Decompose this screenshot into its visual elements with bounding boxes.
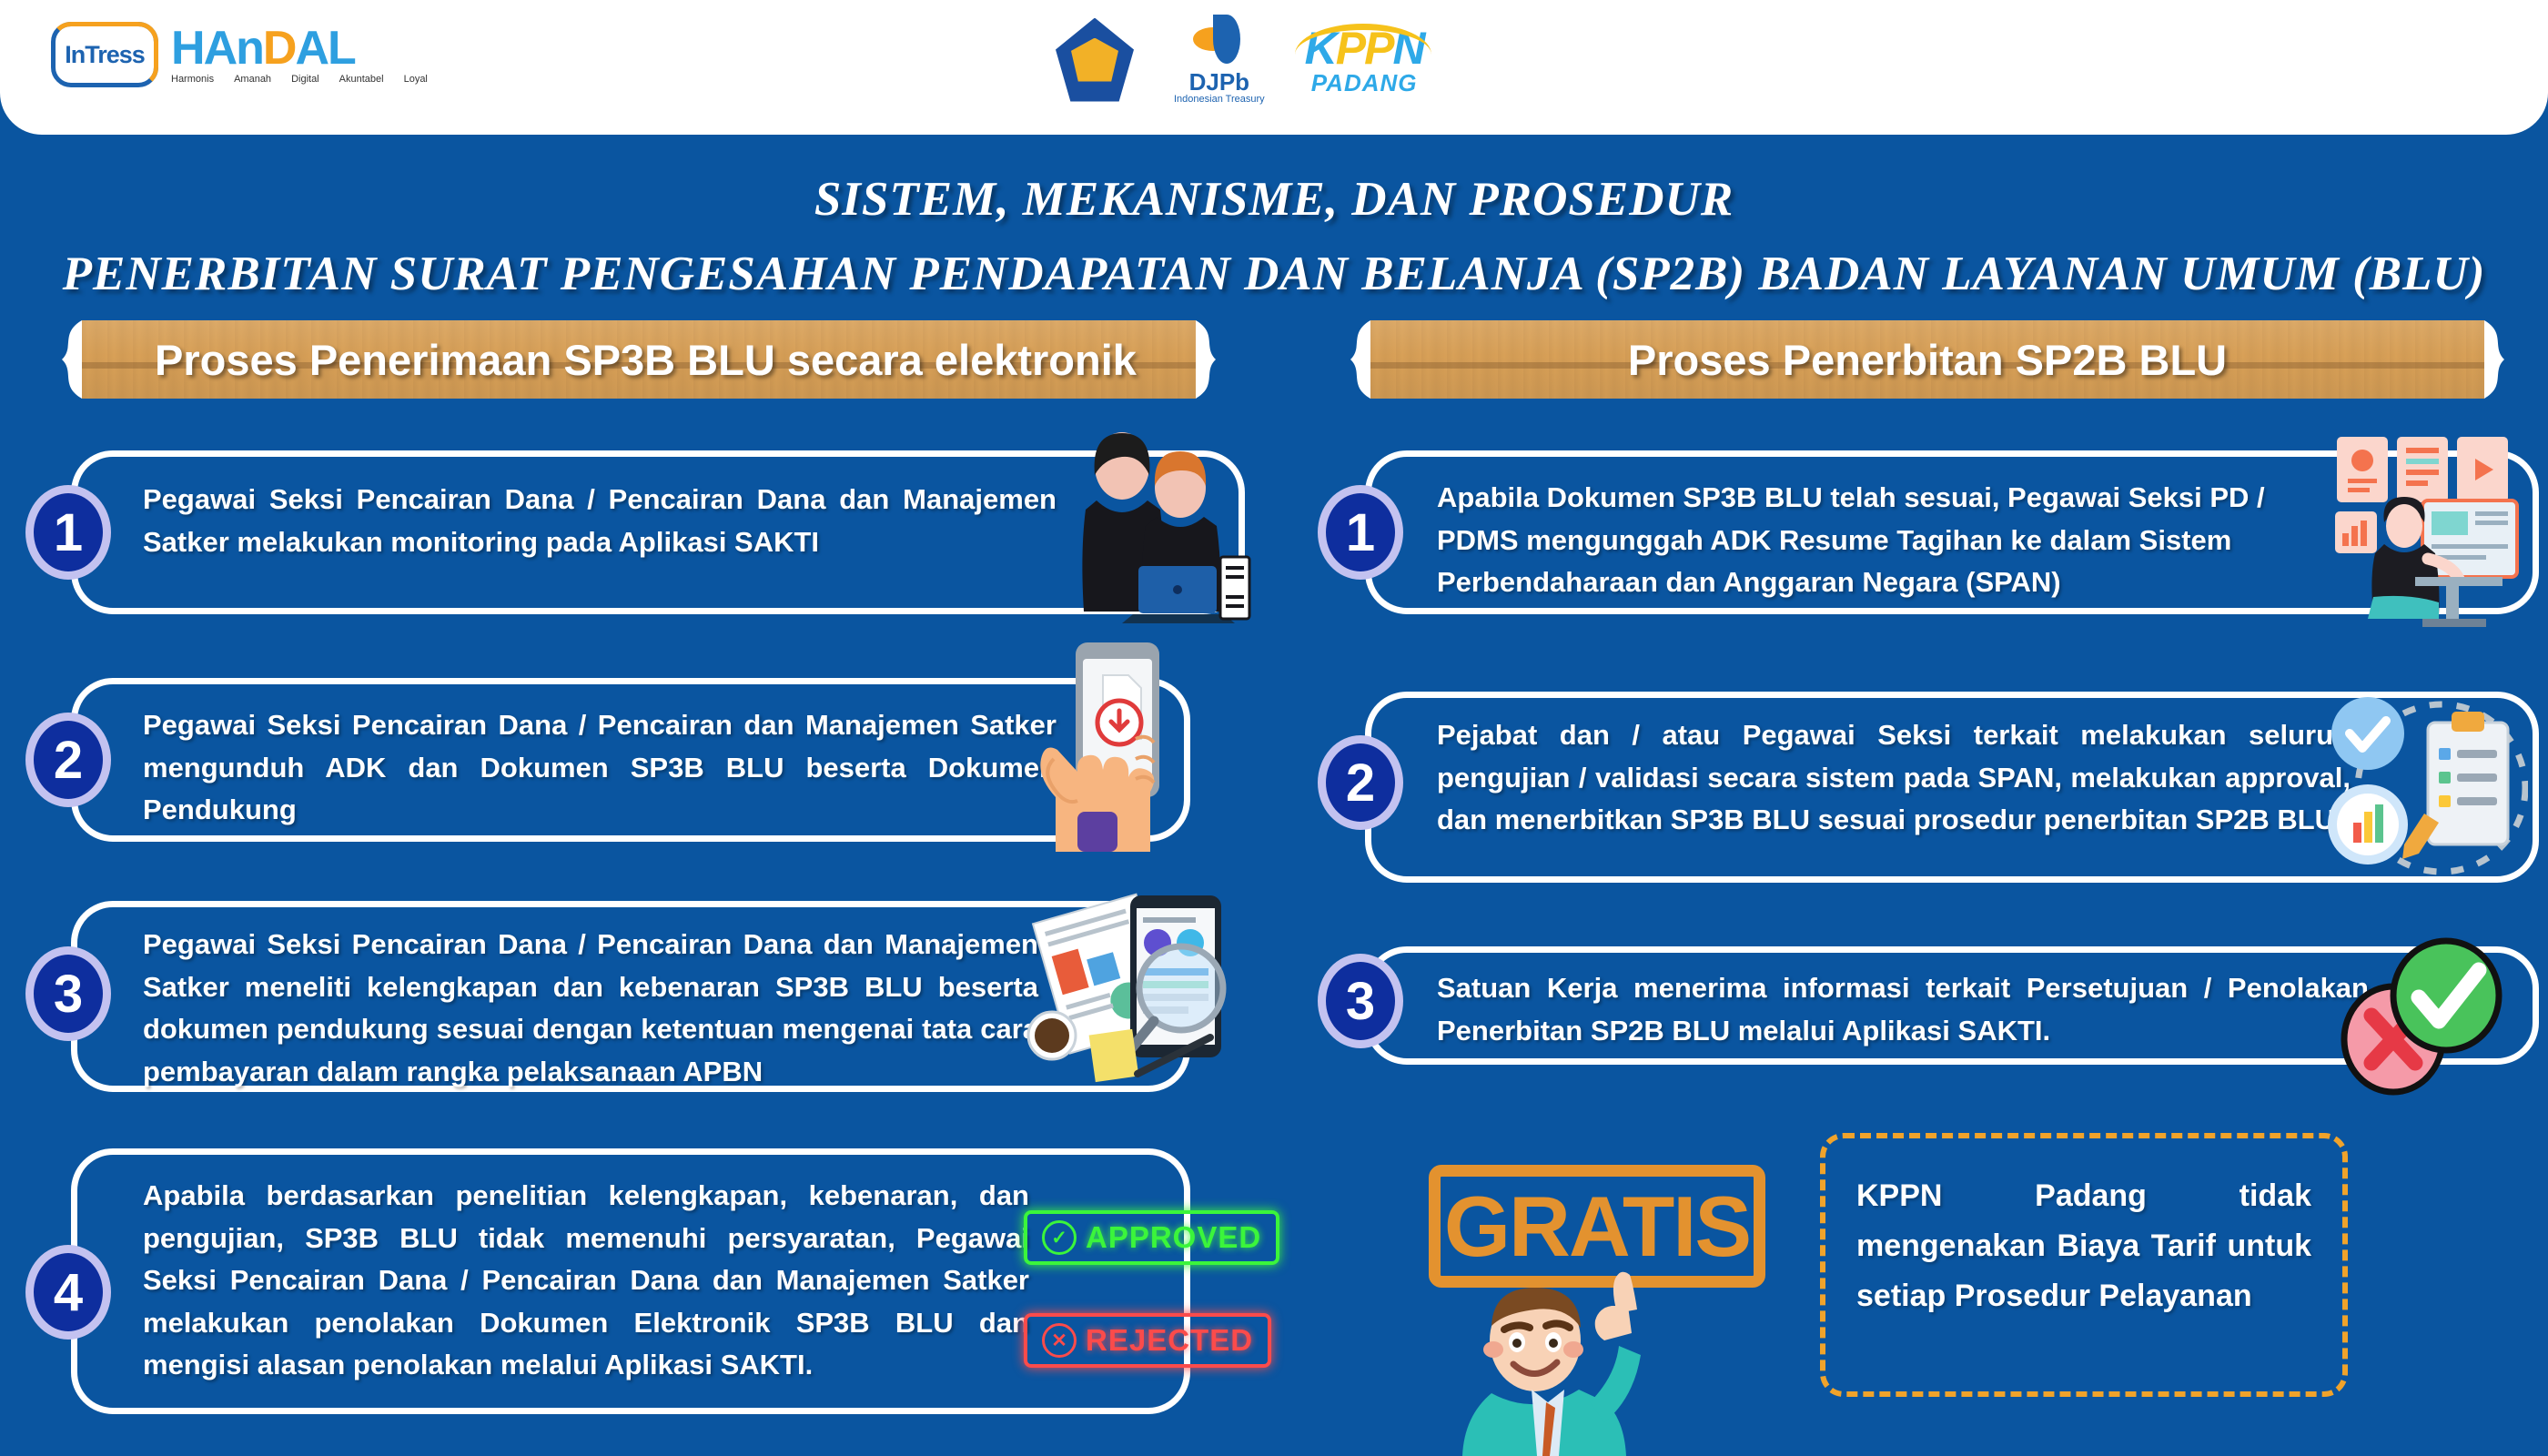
step-text: Pegawai Seksi Pencairan Dana / Pencairan…: [77, 907, 1184, 1093]
kppn-sublabel: PADANG: [1311, 71, 1418, 95]
free-service-note: KPPN Padang tidak mengenakan Biaya Tarif…: [1820, 1133, 2348, 1397]
djpb-mark-icon: [1193, 15, 1246, 67]
cross-circle-icon: ✕: [1042, 1323, 1077, 1358]
ribbon-end-left-icon: [42, 320, 82, 399]
ribbon-end-right-icon: [2484, 320, 2524, 399]
step-text: Satuan Kerja menerima informasi terkait …: [1371, 953, 2533, 1052]
step-number-badge-right-1: 1: [1318, 485, 1403, 580]
step-card-right-3: Satuan Kerja menerima informasi terkait …: [1365, 946, 2539, 1065]
kppn-padang-logo: KPPN PADANG: [1305, 25, 1424, 95]
pointing-businessman-icon: [1451, 1269, 1734, 1456]
rejected-label: REJECTED: [1086, 1323, 1253, 1358]
step-card-left-2: Pegawai Seksi Pencairan Dana / Pencairan…: [71, 678, 1190, 842]
step-number-badge-left-1: 1: [25, 485, 111, 580]
handal-values-row: Harmonis Amanah Digital Akuntabel Loyal: [171, 74, 428, 85]
section-banner-left: Proses Penerimaan SP3B BLU secara elektr…: [42, 320, 1236, 399]
title-line-1: SISTEM, MEKANISME, DAN PROSEDUR: [0, 169, 2548, 229]
step-card-left-1: Pegawai Seksi Pencairan Dana / Pencairan…: [71, 450, 1245, 614]
djpb-logo: DJPb Indonesian Treasury: [1174, 15, 1265, 105]
step-text: Apabila berdasarkan penelitian kelengkap…: [77, 1155, 1184, 1387]
handal-letter-a: A: [204, 22, 237, 75]
banner-wood-plank: Proses Penerbitan SP2B BLU: [1370, 320, 2484, 399]
ribbon-end-right-icon: [1196, 320, 1236, 399]
step-card-right-1: Apabila Dokumen SP3B BLU telah sesuai, P…: [1365, 450, 2539, 614]
logo-group-left: InTress HAnDAL Harmonis Amanah Digital A…: [51, 22, 428, 87]
djpb-label: DJPb: [1189, 70, 1249, 94]
intress-logo-icon: InTress: [51, 22, 158, 87]
step-card-right-2: Pejabat dan / atau Pegawai Seksi terkait…: [1365, 692, 2539, 883]
handal-letter-n: n: [236, 22, 263, 75]
step-number-badge-left-2: 2: [25, 713, 111, 807]
title-line-2: PENERBITAN SURAT PENGESAHAN PENDAPATAN D…: [0, 244, 2548, 304]
status-badge-approved: ✓ APPROVED: [1024, 1210, 1279, 1265]
check-circle-icon: ✓: [1042, 1220, 1077, 1255]
intress-arrow-arc-icon: [51, 22, 158, 87]
handal-value-digital: Digital: [291, 74, 319, 85]
step-text: Pejabat dan / atau Pegawai Seksi terkait…: [1371, 698, 2533, 842]
status-badge-rejected: ✕ REJECTED: [1024, 1313, 1271, 1368]
grain-wings-icon: [1071, 38, 1118, 82]
step-card-left-4: Apabila berdasarkan penelitian kelengkap…: [71, 1148, 1190, 1414]
handal-value-akuntabel: Akuntabel: [339, 74, 384, 85]
step-card-left-3: Pegawai Seksi Pencairan Dana / Pencairan…: [71, 901, 1190, 1092]
approved-label: APPROVED: [1086, 1220, 1261, 1255]
banner-right-label: Proses Penerbitan SP2B BLU: [1370, 335, 2484, 385]
step-number-badge-left-4: 4: [25, 1245, 111, 1340]
handal-letter-h: H: [171, 22, 204, 75]
banner-wood-plank: Proses Penerimaan SP3B BLU secara elektr…: [82, 320, 1196, 399]
handal-letter-d: D: [263, 22, 296, 75]
step-text: Apabila Dokumen SP3B BLU telah sesuai, P…: [1371, 457, 2533, 604]
gratis-label: GRATIS: [1444, 1184, 1750, 1269]
handal-letter-a2: A: [295, 22, 328, 75]
logo-group-center: DJPb Indonesian Treasury KPPN PADANG: [1056, 15, 1424, 105]
banner-left-label: Proses Penerimaan SP3B BLU secara elektr…: [82, 335, 1196, 385]
handal-letter-l: L: [328, 22, 355, 75]
handal-value-amanah: Amanah: [234, 74, 271, 85]
handal-value-harmonis: Harmonis: [171, 74, 214, 85]
handal-value-loyal: Loyal: [404, 74, 428, 85]
free-service-note-text: KPPN Padang tidak mengenakan Biaya Tarif…: [1856, 1171, 2311, 1321]
step-text: Pegawai Seksi Pencairan Dana / Pencairan…: [77, 684, 1184, 832]
step-number-badge-right-3: 3: [1318, 954, 1403, 1048]
handal-logo-text: HAnDAL: [171, 25, 355, 72]
djpb-sublabel: Indonesian Treasury: [1174, 94, 1265, 105]
page-title: SISTEM, MEKANISME, DAN PROSEDUR PENERBIT…: [0, 169, 2548, 305]
ribbon-end-left-icon: [1330, 320, 1370, 399]
step-number-badge-left-3: 3: [25, 946, 111, 1041]
kemenkeu-emblem-icon: [1056, 18, 1134, 102]
step-text: Pegawai Seksi Pencairan Dana / Pencairan…: [77, 457, 1239, 563]
step-number-badge-right-2: 2: [1318, 735, 1403, 830]
handal-logo: HAnDAL Harmonis Amanah Digital Akuntabel…: [171, 25, 428, 85]
header-bar: InTress HAnDAL Harmonis Amanah Digital A…: [0, 0, 2548, 135]
section-banner-right: Proses Penerbitan SP2B BLU: [1330, 320, 2524, 399]
